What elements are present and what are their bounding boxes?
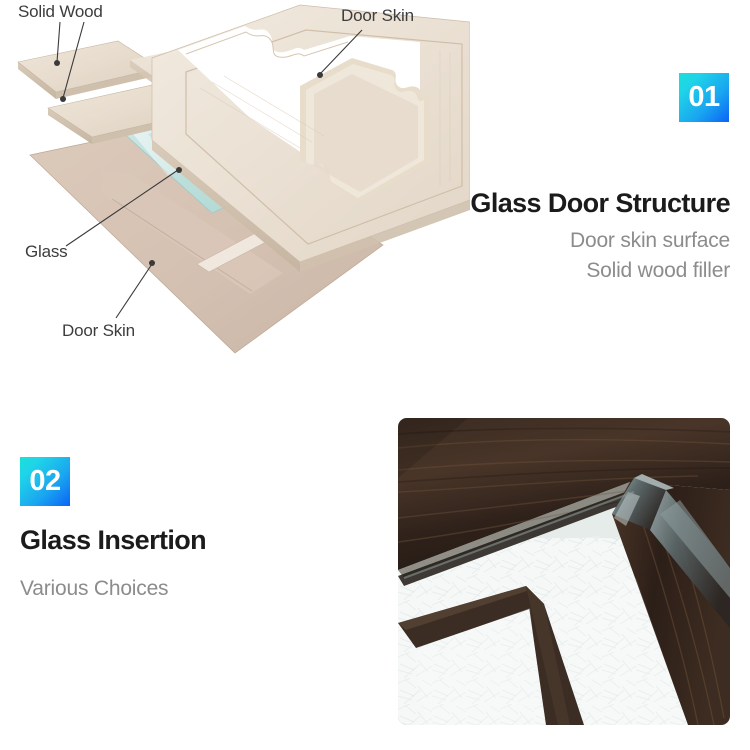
section-number-badge-02: 02 xyxy=(20,457,70,506)
section-01-subline-1: Door skin surface xyxy=(310,226,730,256)
section-glass-door-structure: Solid Wood Door Skin Glass Door Skin 01 … xyxy=(0,0,750,380)
callout-label-glass: Glass xyxy=(25,242,67,262)
section-02-subline-1: Various Choices xyxy=(20,574,380,604)
section-01-subline-2: Solid wood filler xyxy=(310,256,730,286)
callout-label-solid-wood: Solid Wood xyxy=(18,2,103,22)
section-02-title: Glass Insertion xyxy=(20,525,380,556)
section-01-title: Glass Door Structure xyxy=(310,188,730,219)
section-02-text-block: Glass Insertion Various Choices xyxy=(20,525,380,604)
callout-label-door-skin-bottom: Door Skin xyxy=(62,321,135,341)
infographic-page: Solid Wood Door Skin Glass Door Skin 01 … xyxy=(0,0,750,750)
dark-wood-door-glass-corner-photo xyxy=(398,418,730,725)
section-number-badge-01: 01 xyxy=(679,73,729,122)
callout-label-door-skin-top: Door Skin xyxy=(341,6,414,26)
section-01-text-block: Glass Door Structure Door skin surface S… xyxy=(310,188,730,286)
